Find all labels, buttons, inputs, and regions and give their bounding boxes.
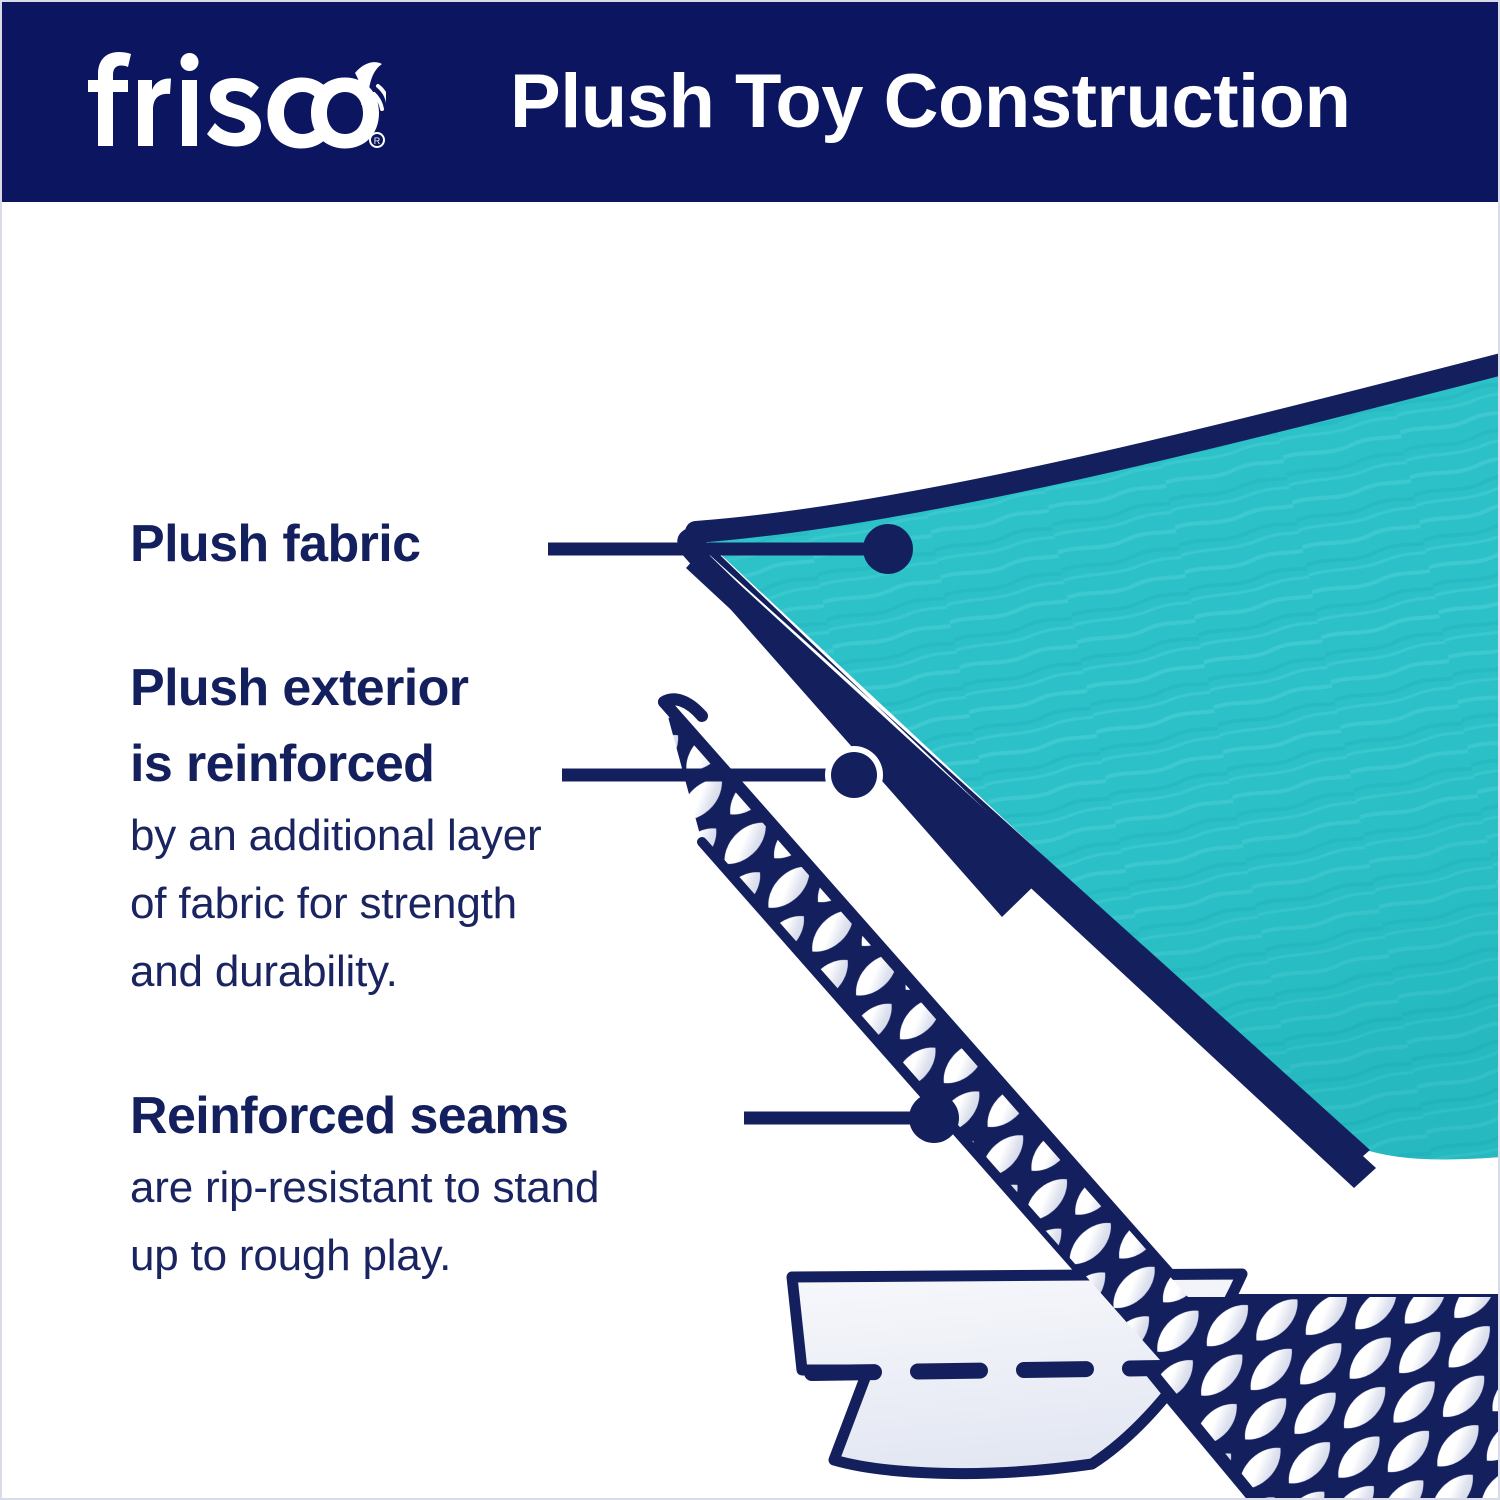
callout-plush-fabric: Plush fabric [130, 506, 420, 582]
marker-dot-reinforced-seams [909, 1093, 959, 1143]
callout-plush-fabric-heading: Plush fabric [130, 506, 420, 582]
callout-plush-exterior-body-line-3: and durability. [130, 938, 541, 1006]
marker-dot-plush-fabric [863, 524, 913, 574]
page-title: Plush Toy Construction [510, 48, 1350, 156]
frisco-logo: R [86, 50, 386, 154]
callout-plush-exterior-body-line-2: of fabric for strength [130, 870, 541, 938]
callout-plush-exterior-heading-line-2: is reinforced [130, 726, 541, 802]
callout-reinforced-seams-heading: Reinforced seams [130, 1078, 599, 1154]
svg-text:R: R [374, 136, 381, 146]
callout-reinforced-seams-body-line-2: up to rough play. [130, 1222, 599, 1290]
callout-plush-exterior-heading-line-1: Plush exterior [130, 650, 541, 726]
callout-plush-exterior: Plush exterior is reinforced by an addit… [130, 650, 541, 1006]
callout-plush-exterior-body-line-1: by an additional layer [130, 802, 541, 870]
header-bar: R Plush Toy Construction [2, 2, 1500, 202]
infographic-page: R Plush Toy Construction [0, 0, 1500, 1500]
callout-reinforced-seams-body-line-1: are rip-resistant to stand [130, 1154, 599, 1222]
leader-reinforced-seams [744, 1093, 959, 1143]
callout-reinforced-seams: Reinforced seams are rip-resistant to st… [130, 1078, 599, 1290]
marker-dot-plush-exterior [831, 752, 877, 798]
